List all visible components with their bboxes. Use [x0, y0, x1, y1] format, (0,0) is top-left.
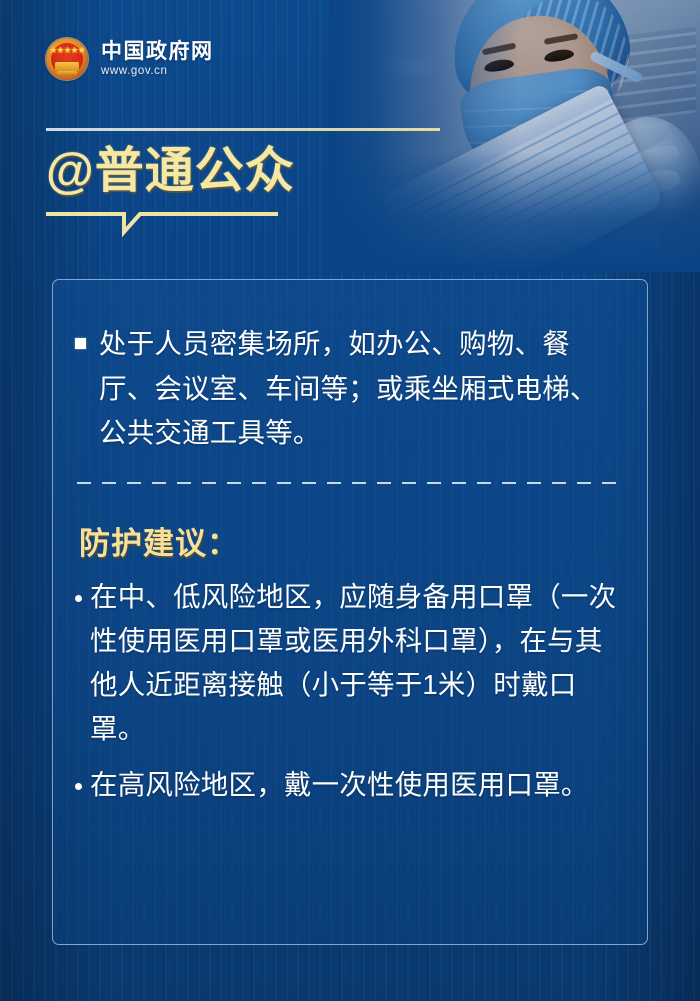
dot-bullet-icon: [75, 783, 82, 790]
brand-text: 中国政府网 www.gov.cn: [101, 41, 214, 77]
dashed-divider: [77, 482, 623, 484]
list-item: 在高风险地区，戴一次性使用医用口罩。: [75, 763, 629, 807]
scenario-row: 处于人员密集场所，如办公、购物、餐厅、会议室、车间等；或乘坐厢式电梯、公共交通工…: [53, 280, 647, 456]
china-national-emblem-icon: ★★★★★: [46, 38, 88, 80]
brand-title: 中国政府网: [101, 41, 214, 63]
advice-item-text: 在中、低风险地区，应随身备用口罩（一次性使用医用口罩或医用外科口罩），在与其他人…: [90, 575, 629, 751]
title-rule-top: [46, 128, 440, 131]
brand-url: www.gov.cn: [101, 65, 214, 77]
speech-tail-rule-icon: [46, 210, 286, 238]
title-rule-bottom: [46, 210, 286, 238]
advice-list: 在中、低风险地区，应随身备用口罩（一次性使用医用口罩或医用外科口罩），在与其他人…: [75, 575, 629, 807]
page-title: @普通公众: [46, 146, 466, 198]
emblem-stars: ★★★★★: [46, 46, 88, 55]
list-item: 在中、低风险地区，应随身备用口罩（一次性使用医用口罩或医用外科口罩），在与其他人…: [75, 575, 629, 751]
title-block: @普通公众: [46, 128, 466, 238]
advice-item-text: 在高风险地区，戴一次性使用医用口罩。: [90, 763, 589, 807]
advice-heading: 防护建议：: [79, 518, 647, 563]
site-brand: ★★★★★ 中国政府网 www.gov.cn: [46, 38, 214, 80]
dot-bullet-icon: [75, 595, 82, 602]
emblem-gate: [55, 62, 79, 71]
advice-card: 处于人员密集场所，如办公、购物、餐厅、会议室、车间等；或乘坐厢式电梯、公共交通工…: [52, 279, 648, 945]
square-bullet-icon: [75, 338, 86, 349]
poster-root: ★★★★★ 中国政府网 www.gov.cn @普通公众 处于人员密集场所，如办…: [0, 0, 700, 1001]
scenario-text: 处于人员密集场所，如办公、购物、餐厅、会议室、车间等；或乘坐厢式电梯、公共交通工…: [99, 322, 621, 456]
